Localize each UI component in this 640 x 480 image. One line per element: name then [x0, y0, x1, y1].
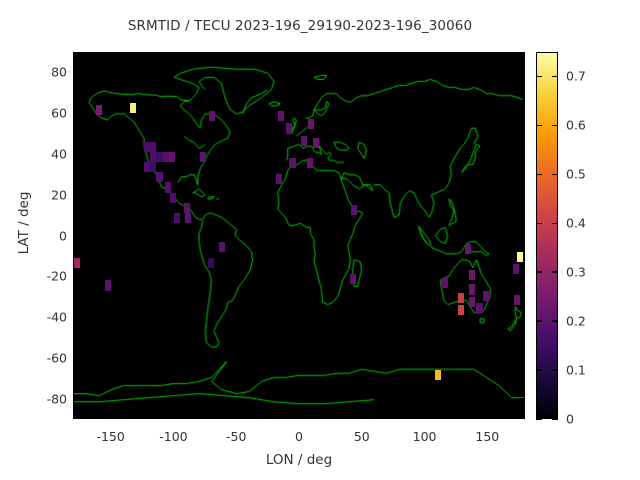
y-tick [73, 113, 78, 115]
data-cell [465, 244, 471, 254]
y-tick-right [520, 194, 525, 196]
colorbar-tick [536, 223, 542, 225]
data-cell [441, 278, 447, 288]
colorbar-tick-label: 0.7 [566, 69, 586, 84]
colorbar-tick-right [552, 125, 558, 127]
map-plot-area [73, 52, 525, 419]
y-tick-label: 80 [25, 65, 67, 80]
y-tick-right [520, 276, 525, 278]
colorbar-tick [536, 418, 542, 420]
colorbar [536, 52, 558, 419]
x-tick-top [361, 52, 363, 57]
y-axis-label: LAT / deg [16, 163, 32, 283]
data-cell [514, 295, 520, 305]
data-cell [200, 152, 206, 162]
data-cell [308, 119, 314, 129]
y-tick [73, 357, 78, 359]
colorbar-gradient [537, 53, 557, 418]
x-tick [173, 414, 175, 419]
data-cell [286, 123, 292, 133]
data-cell [351, 205, 357, 215]
chart-title: SRMTID / TECU 2023-196_29190-2023-196_30… [0, 18, 600, 34]
colorbar-tick-label: 0.3 [566, 265, 586, 280]
colorbar-tick [536, 174, 542, 176]
y-tick-right [520, 153, 525, 155]
x-tick [299, 414, 301, 419]
x-tick-label: -100 [159, 429, 187, 444]
data-cell [105, 280, 111, 290]
data-cell [469, 297, 475, 307]
data-cell [307, 158, 313, 168]
x-tick [361, 414, 363, 419]
x-tick [424, 414, 426, 419]
colorbar-tick [536, 271, 542, 273]
colorbar-tick-right [552, 223, 558, 225]
colorbar-tick-right [552, 369, 558, 371]
colorbar-tick-label: 0.1 [566, 363, 586, 378]
x-tick [110, 414, 112, 419]
data-cell [156, 172, 162, 182]
data-cell [289, 158, 295, 168]
y-tick-right [520, 72, 525, 74]
y-tick [73, 398, 78, 400]
data-cell [458, 305, 464, 315]
y-tick-right [520, 235, 525, 237]
data-cell [169, 152, 175, 162]
data-cell [208, 258, 214, 268]
y-tick-label: -80 [25, 391, 67, 406]
data-cell [513, 264, 519, 274]
y-tick [73, 317, 78, 319]
data-cell [483, 291, 489, 301]
y-tick-right [520, 317, 525, 319]
data-cell [350, 274, 356, 284]
y-tick-right [520, 113, 525, 115]
y-tick-label: 60 [25, 106, 67, 121]
y-tick [73, 72, 78, 74]
colorbar-tick [536, 76, 542, 78]
x-tick-label: 100 [413, 429, 437, 444]
data-cell [313, 138, 319, 148]
data-cell [150, 142, 156, 152]
colorbar-tick-label: 0.2 [566, 314, 586, 329]
data-cell [73, 258, 79, 268]
colorbar-tick [536, 320, 542, 322]
x-tick-label: -50 [226, 429, 246, 444]
data-cell [276, 174, 282, 184]
data-cell [435, 370, 441, 380]
x-tick-label: 0 [295, 429, 303, 444]
y-tick-label: 40 [25, 146, 67, 161]
data-cell [165, 182, 171, 192]
y-tick [73, 276, 78, 278]
x-tick-label: 50 [354, 429, 370, 444]
colorbar-tick [536, 369, 542, 371]
x-tick-top [110, 52, 112, 57]
x-tick-label: -150 [96, 429, 124, 444]
x-tick-top [424, 52, 426, 57]
y-tick [73, 194, 78, 196]
x-tick-label: 150 [475, 429, 499, 444]
data-cell [209, 111, 215, 121]
data-cell [219, 242, 225, 252]
data-cell [278, 111, 284, 121]
colorbar-tick [536, 125, 542, 127]
y-tick [73, 235, 78, 237]
data-cell [185, 213, 191, 223]
colorbar-tick-label: 0.6 [566, 118, 586, 133]
data-cell [184, 203, 190, 213]
data-cell-layer [74, 53, 524, 418]
y-tick [73, 153, 78, 155]
x-tick-top [173, 52, 175, 57]
x-tick [236, 414, 238, 419]
data-cell [301, 136, 307, 146]
x-axis-label: LON / deg [73, 452, 525, 468]
data-cell [458, 293, 464, 303]
y-tick-label: -60 [25, 350, 67, 365]
data-cell [469, 270, 475, 280]
x-tick-top [299, 52, 301, 57]
data-cell [96, 105, 102, 115]
data-cell [174, 213, 180, 223]
colorbar-tick-label: 0.5 [566, 167, 586, 182]
data-cell [170, 193, 176, 203]
colorbar-tick-right [552, 76, 558, 78]
data-cell [476, 303, 482, 313]
data-cell [130, 103, 136, 113]
x-tick [487, 414, 489, 419]
colorbar-tick-label: 0.4 [566, 216, 586, 231]
y-tick-right [520, 398, 525, 400]
x-tick-top [236, 52, 238, 57]
colorbar-tick-right [552, 320, 558, 322]
colorbar-tick-right [552, 418, 558, 420]
data-cell [469, 284, 475, 294]
colorbar-tick-right [552, 174, 558, 176]
x-tick-top [487, 52, 489, 57]
colorbar-tick-label: 0 [566, 412, 574, 427]
colorbar-tick-right [552, 271, 558, 273]
data-cell [517, 252, 523, 262]
y-tick-label: -40 [25, 310, 67, 325]
data-cell [150, 162, 156, 172]
figure-root: SRMTID / TECU 2023-196_29190-2023-196_30… [0, 0, 640, 480]
y-tick-right [520, 357, 525, 359]
